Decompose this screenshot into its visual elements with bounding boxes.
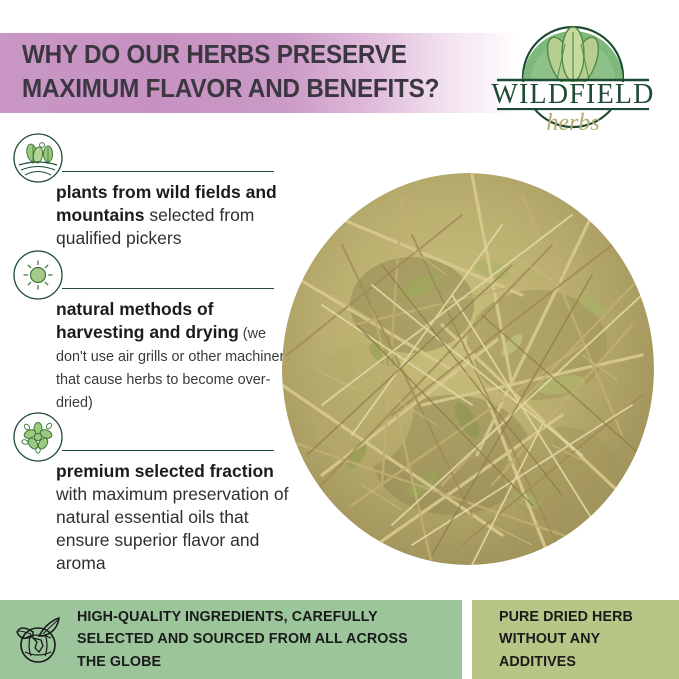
feature-bold-text: premium selected fraction bbox=[56, 461, 274, 481]
dried-herb-pile-photo bbox=[262, 155, 674, 583]
brand-logo: WILDFIELD herbs bbox=[487, 18, 659, 136]
banner-right-text: PURE DRIED HERB WITHOUT ANY ADDITIVES bbox=[499, 606, 668, 672]
sun-icon bbox=[13, 250, 63, 300]
page-title: WHY DO OUR HERBS PRESERVE MAXIMUM FLAVOR… bbox=[22, 39, 459, 106]
flower-sprig-icon bbox=[13, 412, 63, 462]
feature-bold-text: natural methods of harvesting and drying bbox=[56, 299, 239, 342]
logo-brand-sub: herbs bbox=[546, 110, 599, 136]
logo-brand-name: WILDFIELD bbox=[491, 79, 654, 110]
feature-divider-rule bbox=[62, 288, 274, 289]
banner-high-quality-ingredients: HIGH-QUALITY INGREDIENTS, CAREFULLY SELE… bbox=[0, 600, 462, 679]
globe-leaf-icon bbox=[13, 612, 65, 668]
feature-text-wild-fields: plants from wild fields and mountains se… bbox=[56, 181, 292, 250]
feature-text-natural-drying: natural methods of harvesting and drying… bbox=[56, 298, 292, 413]
banner-pure-dried-herb: PURE DRIED HERB WITHOUT ANY ADDITIVES bbox=[472, 600, 679, 679]
feature-divider-rule bbox=[62, 450, 274, 451]
plants-in-field-icon bbox=[13, 133, 63, 183]
infographic-root: WHY DO OUR HERBS PRESERVE MAXIMUM FLAVOR… bbox=[0, 0, 679, 679]
banner-left-text: HIGH-QUALITY INGREDIENTS, CAREFULLY SELE… bbox=[77, 606, 434, 672]
feature-divider-rule bbox=[62, 171, 274, 172]
feature-regular-text: with maximum preservation of natural ess… bbox=[56, 484, 288, 573]
feature-text-premium-fraction: premium selected fraction with maximum p… bbox=[56, 460, 292, 575]
